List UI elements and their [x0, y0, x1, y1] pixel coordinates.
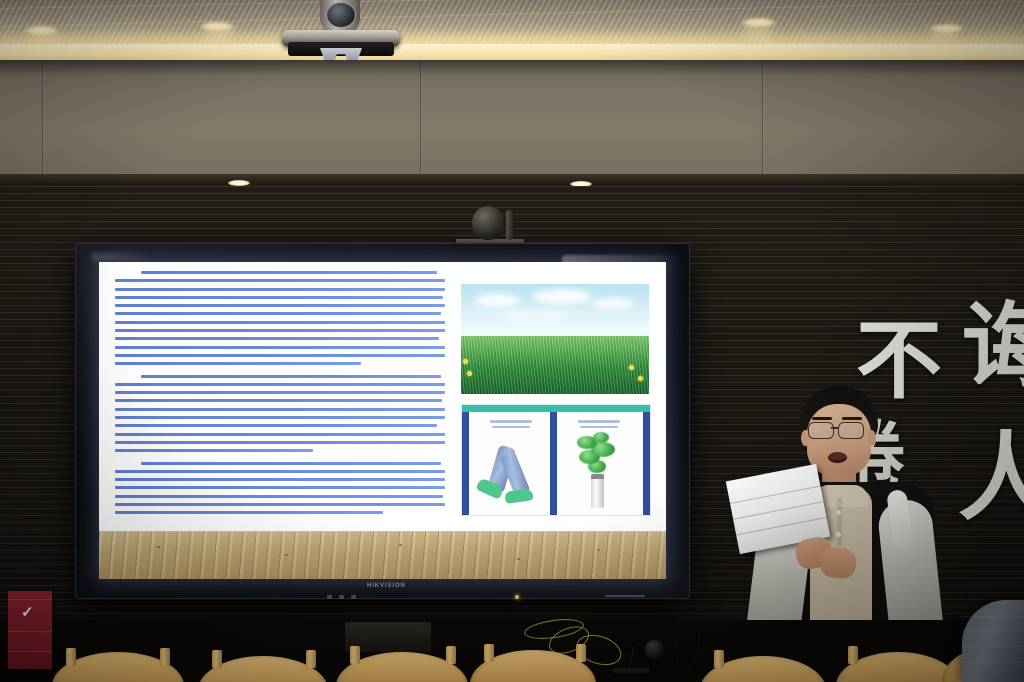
display-brand-label: HIKVISION: [367, 583, 406, 589]
green-smoke-panel: [557, 412, 640, 515]
red-folder-sign: ✓: [8, 591, 52, 669]
wall-panel-seam: [42, 60, 43, 176]
mouth: [828, 452, 847, 463]
shirt-button: [836, 510, 841, 515]
glasses-icon: [808, 422, 834, 439]
upper-wall-panel: [0, 60, 1024, 176]
smokestack-icon: [591, 474, 604, 508]
projector-lens-icon: [326, 2, 356, 28]
ptz-camera-icon: [472, 206, 504, 240]
ear: [867, 430, 876, 446]
camera-antenna: [506, 210, 513, 240]
wooden-boardwalk-strip: [99, 531, 666, 579]
panel-divider: [643, 412, 650, 515]
wall-top-shadow: [0, 60, 1024, 76]
legs-illustration: [477, 446, 541, 508]
face: [807, 404, 871, 476]
two-panel-eco-graphic: [461, 404, 651, 516]
wall-calligraphy-hui: 诲: [962, 300, 1024, 392]
panel-caption: [484, 420, 538, 431]
shirt-placket: [837, 498, 842, 546]
display-screen[interactable]: [99, 262, 666, 579]
eyebrow: [842, 417, 862, 420]
microphone-base: [612, 668, 650, 673]
wall-panel-seam: [762, 60, 763, 176]
microphone-icon: [645, 640, 664, 659]
wall-display[interactable]: HIKVISION: [75, 243, 690, 599]
bezel-glare: [91, 253, 151, 261]
wall-calligraphy-ren: 人: [958, 430, 1024, 526]
hand-right: [819, 546, 858, 580]
classroom-scene: 不 诲 倦 人: [0, 0, 1024, 682]
display-power-led: [515, 595, 519, 599]
panel-top-bar: [462, 405, 650, 412]
shirt-button: [836, 532, 841, 537]
eyebrow: [812, 417, 832, 420]
grass-texture: [461, 336, 649, 394]
panel-caption: [572, 420, 626, 431]
ceiling-projector: [282, 0, 400, 62]
panel-divider: [462, 412, 469, 515]
cove-light-strip: [0, 44, 1024, 61]
slide-text-body: [115, 271, 447, 511]
glasses-bridge: [831, 427, 838, 429]
grass-field-photo: [461, 284, 649, 394]
walking-legs-panel: [469, 412, 552, 515]
glasses-icon: [838, 422, 864, 439]
folder-mark: ✓: [21, 603, 34, 621]
wall-panel-seam: [420, 60, 421, 176]
presentation-slide: [99, 262, 666, 579]
